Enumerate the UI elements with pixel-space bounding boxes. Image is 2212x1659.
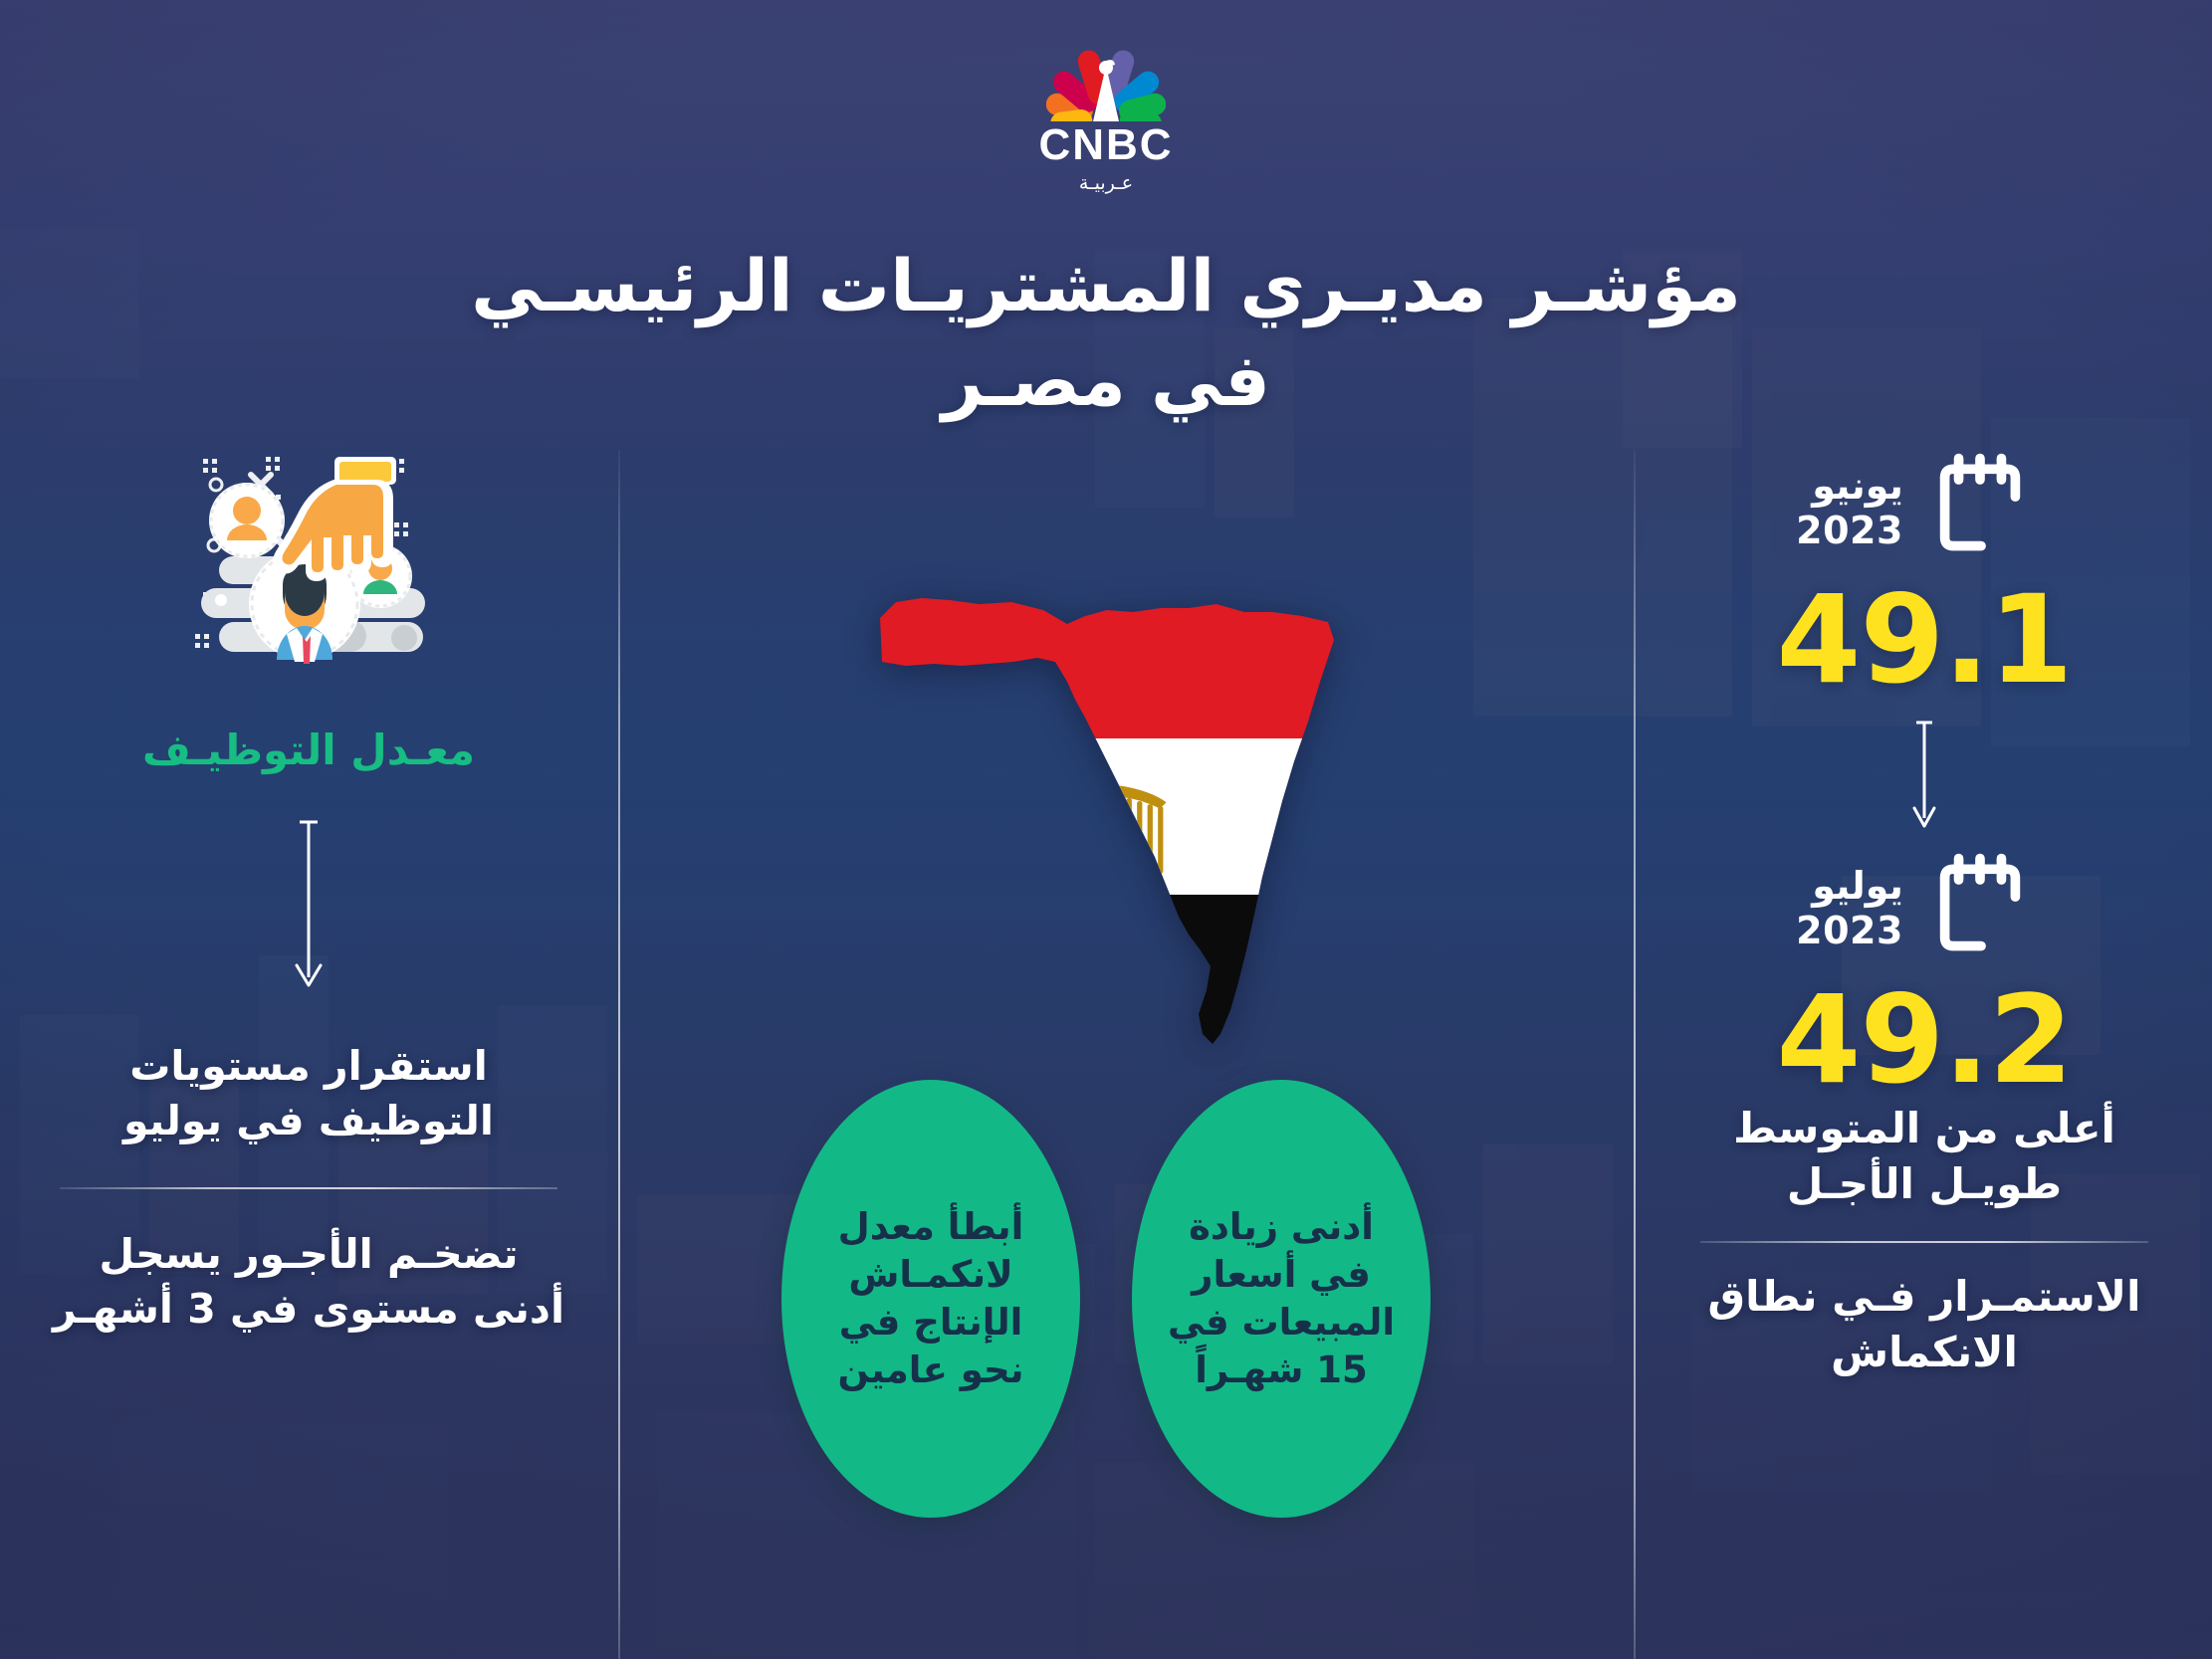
sales-prices-bubble-text: أدنى زيادة في أسعار المبيعات في 15 شهـرا… [1132, 1203, 1431, 1394]
july-date-row: يوليو 2023 [1637, 850, 2212, 967]
employment-column: معـدل التوظيـف استقرار مستويات التوظيف ف… [0, 428, 617, 1337]
cnbc-wordmark: CNBC [996, 123, 1216, 167]
svg-text:جمهورية مصر العربية: جمهورية مصر العربية [1034, 907, 1108, 917]
pmi-readings-column: يونيو 2023 49.1 يوليو 2023 49.2 [1637, 450, 2212, 1380]
recruitment-hiring-icon [159, 453, 458, 702]
above-long-term-average-note: أعلى من المتوسط طويـل الأجـل [1637, 1101, 2212, 1213]
page-title: مؤشـر مديـري المشتريـات الرئيسـي في مصـر [330, 239, 1882, 428]
june-pmi-value: 49.1 [1637, 579, 2212, 701]
june-month: يونيو [1812, 464, 1903, 508]
july-year: 2023 [1796, 909, 1903, 953]
wage-inflation-stat: تضخـم الأجـور يسجل أدنى مستوى في 3 أشهـر [0, 1227, 617, 1337]
column-divider-right [1634, 450, 1636, 1659]
title-line-2: في مصـر [330, 333, 1882, 428]
sales-prices-bubble: أدنى زيادة في أسعار المبيعات في 15 شهـرا… [1132, 1080, 1431, 1518]
calendar-icon [1921, 450, 2039, 567]
july-pmi-value: 49.2 [1637, 979, 2212, 1101]
june-date-label: يونيو 2023 [1796, 464, 1903, 553]
egypt-map-flag-icon: جمهورية مصر العربية [872, 582, 1340, 1050]
arrow-down-icon [1907, 719, 1941, 836]
employment-rate-label: معـدل التوظيـف [0, 724, 617, 778]
june-year: 2023 [1796, 509, 1903, 553]
july-month: يوليو [1812, 864, 1903, 908]
infographic-canvas: CNBC عـربيـة مؤشـر مديـري المشتريـات الر… [0, 0, 2212, 1659]
june-date-row: يونيو 2023 [1637, 450, 2212, 567]
left-horizontal-divider [60, 1187, 557, 1189]
cnbc-peacock-icon [1046, 34, 1166, 121]
july-date-label: يوليو 2023 [1796, 864, 1903, 953]
highlight-bubbles: أدنى زيادة في أسعار المبيعات في 15 شهـرا… [603, 1080, 1609, 1518]
calendar-icon [1921, 850, 2039, 967]
cnbc-logo: CNBC عـربيـة [996, 34, 1216, 194]
output-contraction-bubble: أبطأ معدل لانكمـاش الإنتاج في نحو عامين [781, 1080, 1080, 1518]
title-line-1: مؤشـر مديـري المشتريـات الرئيسـي [471, 244, 1741, 327]
right-horizontal-divider [1700, 1241, 2148, 1243]
arrow-down-icon [289, 818, 329, 997]
employment-stability-stat: استقرار مستويات التوظيف في يوليو [0, 1039, 617, 1148]
egypt-map: جمهورية مصر العربية [872, 582, 1340, 1050]
cnbc-arabic-wordmark: عـربيـة [996, 172, 1216, 194]
output-contraction-bubble-text: أبطأ معدل لانكمـاش الإنتاج في نحو عامين [781, 1203, 1080, 1394]
contraction-territory-note: الاستمـرار فـي نطاق الانكماش [1637, 1269, 2212, 1381]
